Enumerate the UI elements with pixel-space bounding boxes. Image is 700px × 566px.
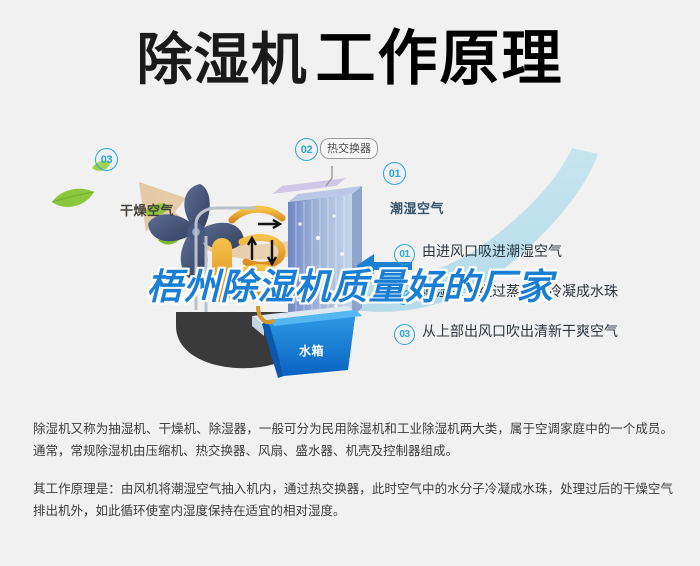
step-number: 02	[394, 284, 415, 305]
step-number: 01	[394, 244, 415, 265]
list-item: 03 从上部出风口吹出清新干爽空气	[394, 322, 694, 345]
list-item: 01 由进风口吸进潮湿空气	[394, 242, 694, 265]
heat-exchanger-tag: 热交换器	[320, 138, 378, 159]
step-text: 从上部出风口吹出清新干爽空气	[422, 322, 618, 341]
diagram-badge-03: 03	[95, 148, 118, 171]
page-root: 除湿机工作原理	[0, 0, 700, 566]
step-number: 03	[394, 324, 415, 345]
step-text: 潮湿空气经过蒸发器冷凝成水珠	[422, 282, 618, 301]
diagram-badge-02: 02	[295, 138, 318, 161]
water-tank-label: 水箱	[299, 342, 324, 359]
compressor	[212, 238, 232, 302]
page-title-part2: 工作原理	[316, 24, 564, 94]
page-title: 除湿机工作原理	[0, 28, 700, 92]
dehumidifier-diagram: 03 02 01 热交换器 干燥空气 潮湿空气 水箱 01 由进风口吸进潮湿空气…	[0, 120, 700, 390]
step-text: 由进风口吸进潮湿空气	[422, 242, 562, 261]
humid-air-label: 潮湿空气	[390, 198, 444, 217]
refrigerant-flow-arrows	[248, 220, 280, 300]
paragraph-2: 其工作原理是：由风机将潮湿空气抽入机内，通过热交换器，此时空气中的水分子冷凝成水…	[33, 478, 673, 522]
dry-air-label: 干燥空气	[120, 200, 174, 219]
diagram-badge-01: 01	[383, 162, 406, 185]
page-title-part1: 除湿机	[137, 28, 308, 93]
steps-list: 01 由进风口吸进潮湿空气 02 潮湿空气经过蒸发器冷凝成水珠 03 从上部出风…	[394, 242, 694, 362]
paragraph-1: 除湿机又称为抽湿机、干燥机、除湿器，一般可分为民用除湿机和工业除湿机两大类，属于…	[33, 418, 673, 462]
list-item: 02 潮湿空气经过蒸发器冷凝成水珠	[394, 282, 694, 305]
body-text: 除湿机又称为抽湿机、干燥机、除湿器，一般可分为民用除湿机和工业除湿机两大类，属于…	[33, 418, 673, 522]
